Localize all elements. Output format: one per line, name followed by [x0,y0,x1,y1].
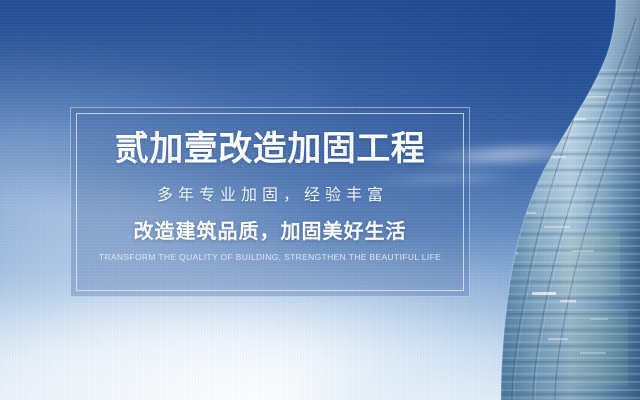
skyscraper-image [440,0,640,400]
tower-body [480,0,640,400]
tagline-text: 改造建筑品质，加固美好生活 [134,222,407,242]
subheadline-text: 多年专业加固，经验丰富 [152,188,388,204]
promo-banner: 贰加壹改造加固工程 多年专业加固，经验丰富 改造建筑品质，加固美好生活 TRAN… [0,0,640,400]
headline-title: 贰加壹改造加固工程 [115,132,426,166]
hero-text-panel: 贰加壹改造加固工程 多年专业加固，经验丰富 改造建筑品质，加固美好生活 TRAN… [70,107,470,297]
hero-text-group: 贰加壹改造加固工程 多年专业加固，经验丰富 改造建筑品质，加固美好生活 TRAN… [71,108,469,296]
skyscraper-illustration [440,0,640,400]
tagline-english-text: TRANSFORM THE QUALITY OF BUILDING, STREN… [99,253,441,262]
